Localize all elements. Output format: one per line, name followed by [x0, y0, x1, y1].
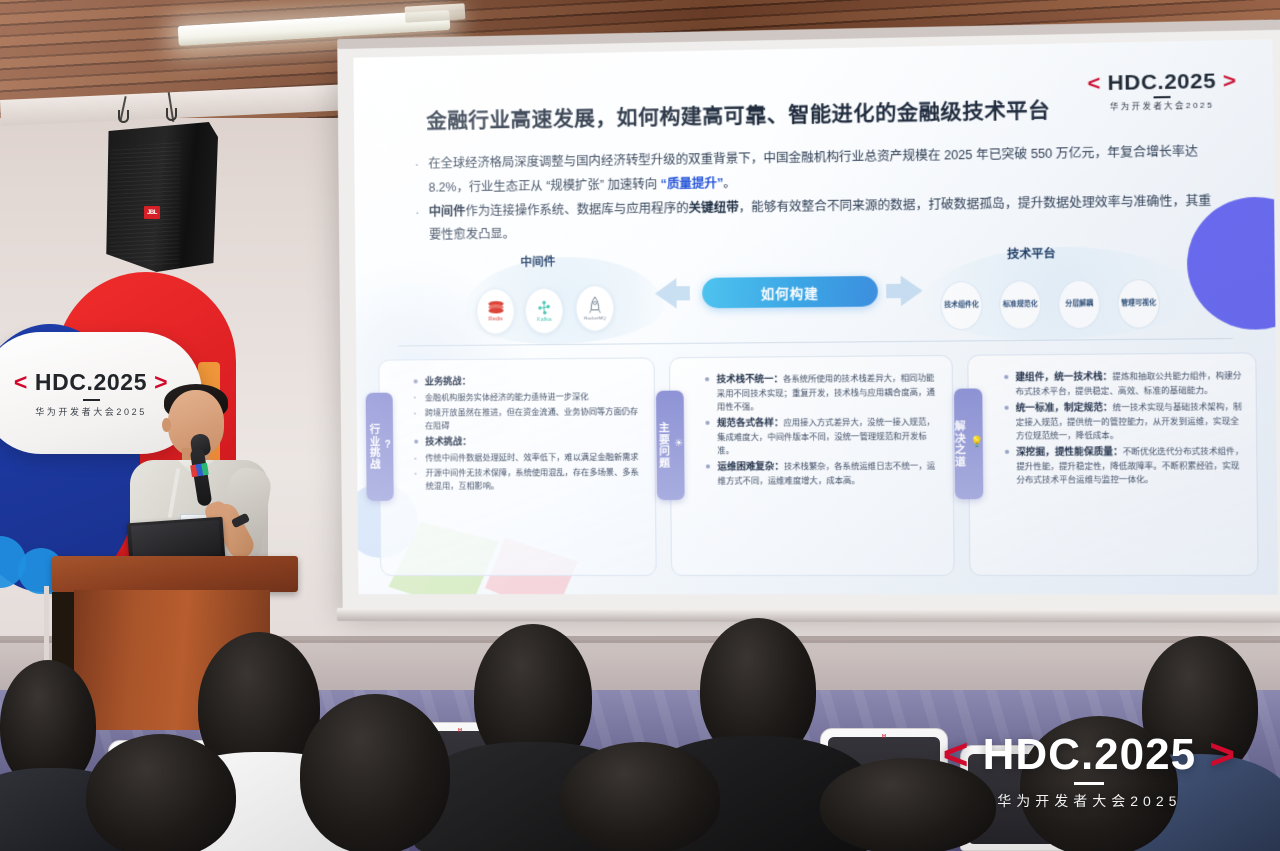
platform-chip-4: 管理可视化 — [1117, 279, 1160, 329]
list-item: 开源中间件无技术保障，系统使用混乱，存在多场景、多系统混用，互相影响。 — [414, 466, 645, 493]
middleware-name-kafka: Kafka — [537, 316, 551, 322]
middleware-name-rocketmq: RocketMQ — [584, 315, 606, 320]
middleware-cloud-label: 中间件 — [520, 253, 555, 270]
jbl-logo-icon: JBL — [144, 206, 160, 219]
lectern-top — [52, 556, 298, 592]
sun-icon: ☀ — [674, 438, 684, 449]
screen-bottom-bar — [337, 608, 1280, 623]
card-tab-label-3: 解决之道 — [952, 420, 968, 467]
card-1-list: 业务挑战： 金融机构服务实体经济的能力亟待进一步深化 跨境开放虽然在推进，但在资… — [414, 373, 645, 494]
conference-session-photo: JBL < HDC.2025 > 华为开发者大会2025 — [0, 0, 1280, 851]
list-item: 深挖掘，提性能保质量：不断优化迭代分布式技术组件，提升性能，提升稳定性，降低故障… — [1004, 444, 1245, 487]
list-item: 业务挑战： — [414, 373, 644, 390]
card-tab-label-2: 主要问题 — [657, 422, 673, 469]
list-item: 运维困难复杂：技术栈繁杂，各系统运维日志不统一，运维方式不同，运维难度增大，成本… — [706, 459, 942, 488]
platform-cloud-label: 技术平台 — [1007, 245, 1056, 262]
list-item: 传统中间件数据处理延时、效率低下，难以满足金融新需求 — [414, 451, 644, 465]
card-industry-challenges: ? 行业挑战 业务挑战： 金融机构服务实体经济的能力亟待进一步深化 跨境开放虽然… — [378, 357, 657, 576]
list-item: 跨境开放虽然在推进，但在资金流通、业务协同等方面仍存在阻碍 — [414, 405, 645, 433]
list-item: 金融机构服务实体经济的能力亟待进一步深化 — [414, 390, 644, 405]
bulb-icon: 💡 — [970, 437, 984, 448]
redis-logo-icon — [487, 300, 504, 315]
slide-logo-wordmark: HDC.2025 — [1108, 69, 1217, 95]
arrow-left-icon — [655, 278, 677, 309]
bullet-dot-icon: · — [414, 153, 419, 201]
platform-chip-1: 技术组件化 — [940, 281, 982, 331]
huawei-logo-icon: ᴴ — [882, 733, 885, 742]
arrow-left-tail — [675, 286, 689, 300]
list-item: 统一标准，制定规范：统一技术实现与基础技术架构，制定接入规范，提供统一的管控能力… — [1004, 399, 1245, 443]
slide-logo-close-angle-icon: > — [1223, 69, 1237, 93]
card-tab-solutions: 💡 解决之道 — [954, 388, 983, 499]
slide-hdc-logo: < HDC.2025 > 华为开发者大会2025 — [1087, 69, 1237, 113]
slide-logo-open-angle-icon: < — [1087, 72, 1101, 96]
speaker-hook-right — [166, 108, 177, 121]
hdc-watermark: < HDC.2025 > 华为开发者大会2025 — [943, 730, 1236, 811]
speaker-cabinet: JBL — [104, 122, 218, 272]
slide-title: 金融行业高速发展，如何构建高可靠、智能进化的金融级技术平台 — [426, 93, 1050, 134]
card-2-list: 技术栈不统一：各系统所使用的技术栈差异大，相同功能采用不同技术实现；重复开发，技… — [705, 370, 942, 488]
card-tab-label-1: 行业挑战 — [367, 424, 382, 470]
slide-bullet-2-text: 中间件作为连接操作系统、数据库与应用程序的关键纽带，能够有效整合不同来源的数据，… — [429, 189, 1213, 248]
backdrop-sign-open-angle-icon: < — [14, 369, 28, 395]
list-item: 技术挑战： — [414, 434, 644, 450]
projection-screen: < HDC.2025 > 华为开发者大会2025 金融行业高速发展，如何构建高可… — [337, 29, 1280, 610]
card-solutions: 💡 解决之道 建组件，统一技术栈：提炼和抽取公共能力组件，构建分布式技术平台，提… — [967, 352, 1259, 576]
card-3-list: 建组件，统一技术栈：提炼和抽取公共能力组件，构建分布式技术平台，提供稳定、高效、… — [1004, 368, 1246, 487]
audience-head — [300, 694, 450, 851]
audience-head — [560, 742, 720, 851]
platform-chip-2: 标准规范化 — [999, 280, 1042, 330]
middleware-chip-redis: Redis — [476, 288, 515, 335]
ceiling-speaker: JBL — [104, 108, 222, 278]
slide-bullet-2: · 中间件作为连接操作系统、数据库与应用程序的关键纽带，能够有效整合不同来源的数… — [415, 189, 1213, 248]
watermark-close-angle-icon: > — [1209, 730, 1236, 779]
list-item: 建组件，统一技术栈：提炼和抽取公共能力组件，构建分布式技术平台，提供稳定、高效、… — [1004, 368, 1245, 399]
question-mark-icon: ? — [385, 440, 392, 451]
list-item: 规范各式各样：应用接入方式差异大，没统一接入规范，集成难度大，中间件版本不同，没… — [706, 414, 942, 457]
watermark-wordmark: HDC.2025 — [983, 730, 1196, 779]
card-tab-industry-challenges: ? 行业挑战 — [366, 393, 394, 501]
speaker-hook-left — [118, 110, 129, 123]
kafka-logo-icon — [536, 299, 552, 315]
slide-bullet-list: · 在全球经济格局深度调整与国内经济转型升级的双重背景下，中国金融机构行业总资产… — [414, 140, 1212, 248]
card-tab-main-problems: ☀ 主要问题 — [656, 391, 685, 501]
presentation-slide: < HDC.2025 > 华为开发者大会2025 金融行业高速发展，如何构建高可… — [353, 39, 1278, 594]
backdrop-sign-dash — [83, 399, 100, 401]
rocketmq-logo-icon — [588, 296, 602, 314]
card-main-problems: ☀ 主要问题 技术栈不统一：各系统所使用的技术栈差异大，相同功能采用不同技术实现… — [669, 355, 954, 576]
presenter-ear — [162, 418, 171, 432]
list-item: 技术栈不统一：各系统所使用的技术栈差异大，相同功能采用不同技术实现；重复开发，技… — [705, 370, 941, 414]
bullet-dot-icon: · — [415, 200, 420, 248]
watermark-wordmark-row: < HDC.2025 > — [943, 730, 1236, 780]
how-to-build-button: 如何构建 — [702, 276, 878, 308]
slide-logo-wordmark-row: < HDC.2025 > — [1087, 69, 1236, 97]
middleware-chip-kafka: Kafka — [525, 288, 564, 335]
slide-card-row: ? 行业挑战 业务挑战： 金融机构服务实体经济的能力亟待进一步深化 跨境开放虽然… — [378, 352, 1258, 576]
watermark-open-angle-icon: < — [943, 730, 970, 779]
audience-head — [86, 734, 236, 851]
watermark-dash — [1074, 782, 1104, 785]
slide-logo-dash — [1153, 96, 1170, 98]
platform-chip-3: 分层解耦 — [1058, 280, 1101, 330]
arrow-right-icon — [901, 275, 923, 306]
slide-flow-diagram: 中间件 技术平台 Redis — [389, 243, 1247, 346]
slide-logo-subtitle: 华为开发者大会2025 — [1088, 99, 1237, 113]
laptop-screen — [131, 520, 221, 561]
watermark-subtitle: 华为开发者大会2025 — [943, 791, 1236, 811]
middleware-chip-rocketmq: RocketMQ — [575, 285, 614, 332]
middleware-name-redis: Redis — [489, 316, 503, 322]
huawei-logo-icon: ᴴ — [458, 727, 461, 736]
